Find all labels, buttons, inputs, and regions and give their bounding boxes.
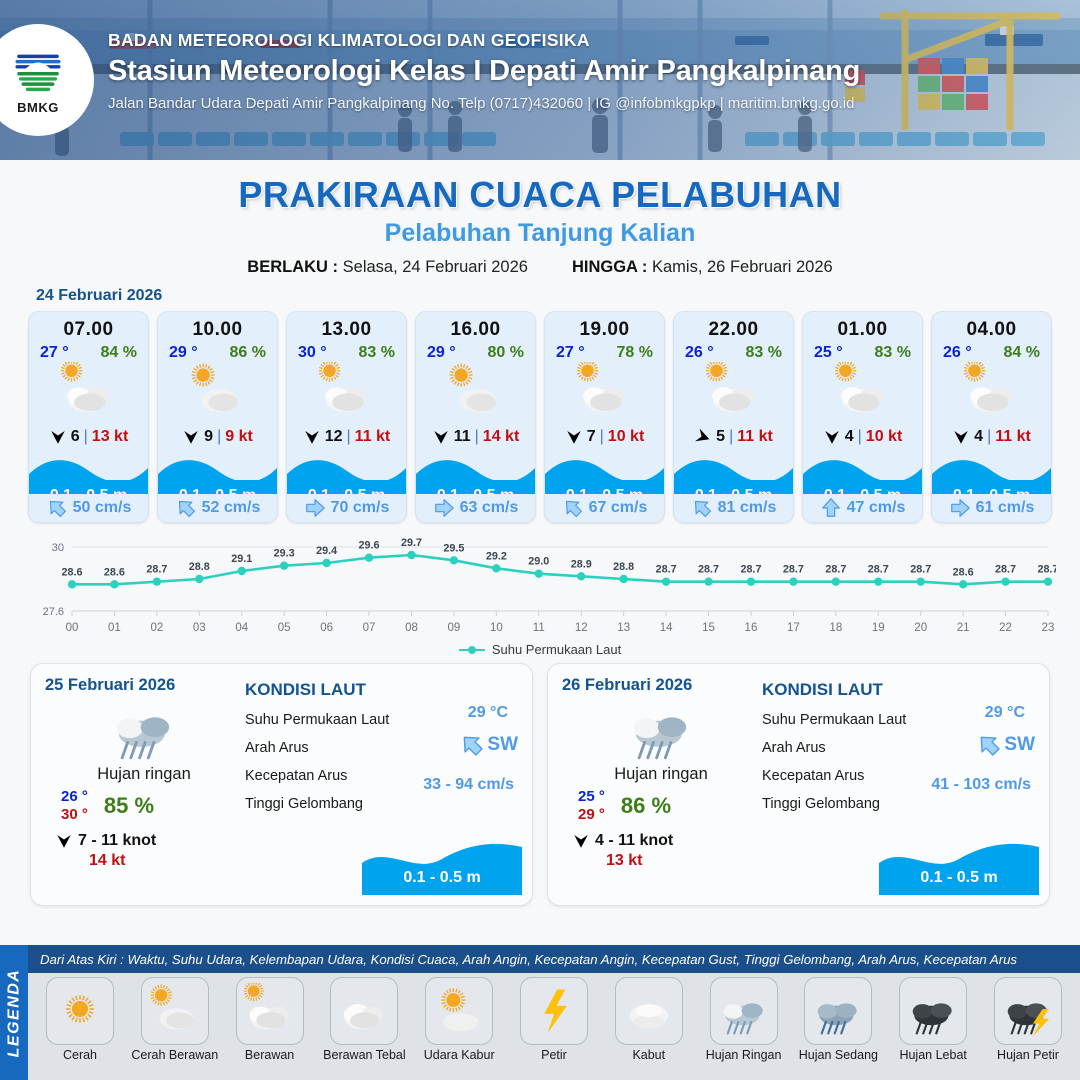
sea-label-wave: Tinggi Gelombang	[245, 796, 363, 812]
daily-wind: 4 - 11 knot	[562, 832, 760, 850]
card-current: 81 cm/s	[674, 494, 793, 522]
legend-icon-box	[141, 977, 209, 1045]
svg-text:11: 11	[533, 622, 545, 634]
wind-direction-arrow-icon	[182, 428, 200, 446]
sea-row-wave-label: Tinggi Gelombang	[762, 790, 1035, 818]
legend-item-label: Petir	[541, 1048, 567, 1062]
valid-to: HINGGA : Kamis, 26 Februari 2026	[572, 258, 833, 277]
card-current: 67 cm/s	[545, 494, 664, 522]
card-gust-speed: 11 kt	[995, 428, 1031, 446]
legend-item-label: Berawan Tebal	[323, 1048, 405, 1062]
daily-temp-min: 26 °	[61, 788, 88, 806]
legend-icon-box	[994, 977, 1062, 1045]
current-direction-arrow-icon	[691, 497, 713, 519]
card-current: 63 cm/s	[416, 494, 535, 522]
card-temp-humidity: 29 ° 80 %	[416, 341, 535, 362]
berawan-icon	[706, 362, 762, 423]
daily-temp-max: 30 °	[61, 806, 88, 824]
hujan-ringan-icon	[626, 690, 696, 767]
daily-gust: 13 kt	[562, 852, 760, 870]
daily-wind-speed: 4 - 11 knot	[595, 832, 673, 850]
valid-to-label: HINGGA :	[572, 258, 647, 276]
svg-text:30: 30	[52, 542, 64, 554]
legend-item: Hujan Petir	[984, 977, 1072, 1062]
wind-direction-arrow-icon	[49, 428, 67, 446]
legend-icon-box	[615, 977, 683, 1045]
hourly-card: 13.00 30 ° 83 % 12 | 11 kt 0.1 - 0.5 m	[286, 311, 407, 523]
daily-condition: Hujan ringan	[45, 765, 243, 784]
hourly-card: 22.00 26 ° 83 % 5 | 11 kt 0.1 - 0.5 m	[673, 311, 794, 523]
card-wind-separator: |	[600, 428, 604, 446]
legend-item-label: Hujan Lebat	[899, 1048, 966, 1062]
legend-icon-box	[236, 977, 304, 1045]
card-wind: 4 | 10 kt	[803, 422, 922, 452]
legend-item-label: Hujan Sedang	[799, 1048, 878, 1062]
hourly-date-label: 24 Februari 2026	[36, 287, 1080, 305]
svg-text:13: 13	[617, 622, 630, 634]
svg-text:07: 07	[363, 622, 376, 634]
port-name: Pelabuhan Tanjung Kalian	[0, 219, 1080, 248]
sea-label-sst: Suhu Permukaan Laut	[762, 712, 906, 728]
sea-conditions-title: KONDISI LAUT	[245, 680, 518, 700]
svg-text:29.1: 29.1	[231, 553, 252, 565]
card-wind-speed: 9	[204, 428, 213, 446]
card-wind: 6 | 13 kt	[29, 422, 148, 452]
sea-label-wave: Tinggi Gelombang	[762, 796, 880, 812]
legend-item: Hujan Lebat	[889, 977, 977, 1062]
svg-text:29.0: 29.0	[528, 556, 549, 568]
daily-humidity: 86 %	[621, 793, 671, 819]
hujan-lebat-icon	[907, 983, 959, 1040]
legend-note-text: Dari Atas Kiri : Waktu, Suhu Udara, Kele…	[40, 952, 1017, 967]
svg-text:21: 21	[957, 622, 970, 634]
card-temperature: 30 °	[298, 344, 327, 362]
card-humidity: 84 %	[101, 344, 137, 362]
bmkg-emblem-icon	[12, 45, 64, 99]
berawan-tebal-icon	[338, 983, 390, 1040]
page-title: PRAKIRAAN CUACA PELABUHAN	[0, 174, 1080, 216]
wind-direction-arrow-icon	[55, 832, 73, 850]
legend-item: Berawan	[226, 977, 314, 1062]
agency-name: BADAN METEOROLOGI KLIMATOLOGI DAN GEOFIS…	[108, 30, 860, 51]
card-gust-speed: 14 kt	[483, 428, 519, 446]
svg-text:28.7: 28.7	[1037, 564, 1056, 576]
svg-text:00: 00	[66, 622, 79, 634]
title-block: PRAKIRAAN CUACA PELABUHAN Pelabuhan Tanj…	[0, 174, 1080, 277]
card-current: 61 cm/s	[932, 494, 1051, 522]
card-time: 04.00	[932, 312, 1051, 341]
svg-text:28.7: 28.7	[910, 564, 931, 576]
card-wave-block: 0.1 - 0.5 m 70 cm/s	[287, 454, 406, 522]
sea-value-current-speed: 33 - 94 cm/s	[423, 776, 514, 794]
card-temp-humidity: 27 ° 78 %	[545, 341, 664, 362]
card-weather-icon	[803, 364, 922, 422]
card-current-speed: 70 cm/s	[331, 499, 390, 517]
card-humidity: 78 %	[617, 344, 653, 362]
sea-value-wave-text: 0.1 - 0.5 m	[879, 869, 1039, 887]
station-name: Stasiun Meteorologi Kelas I Depati Amir …	[108, 55, 860, 88]
card-current: 47 cm/s	[803, 494, 922, 522]
sea-label-current-dir: Arah Arus	[762, 740, 826, 756]
svg-text:28.6: 28.6	[104, 566, 125, 578]
legend-side-title: LEGENDA	[0, 945, 28, 1080]
sst-chart: 3027.60001020304050607080910111213141516…	[24, 535, 1056, 640]
card-wind: 9 | 9 kt	[158, 422, 277, 452]
svg-text:28.8: 28.8	[613, 561, 634, 573]
hourly-card: 04.00 26 ° 84 % 4 | 11 kt 0.1 - 0.5 m	[931, 311, 1052, 523]
card-temp-humidity: 27 ° 84 %	[29, 341, 148, 362]
card-wind-speed: 6	[71, 428, 80, 446]
svg-text:02: 02	[150, 622, 163, 634]
svg-text:17: 17	[787, 622, 800, 634]
svg-text:28.6: 28.6	[953, 566, 974, 578]
legend-item-label: Cerah Berawan	[131, 1048, 218, 1062]
card-time: 13.00	[287, 312, 406, 341]
svg-text:01: 01	[108, 622, 121, 634]
legend-item: Cerah	[36, 977, 124, 1062]
card-current-speed: 50 cm/s	[73, 499, 132, 517]
card-current-speed: 61 cm/s	[976, 499, 1035, 517]
bmkg-logo-text: BMKG	[17, 100, 59, 115]
card-gust-speed: 10 kt	[608, 428, 644, 446]
card-humidity: 84 %	[1004, 344, 1040, 362]
berawan-icon	[577, 362, 633, 423]
current-direction-arrow-icon	[459, 732, 485, 758]
svg-text:29.7: 29.7	[401, 537, 422, 549]
legend-item-label: Hujan Ringan	[706, 1048, 782, 1062]
legend-item: Petir	[510, 977, 598, 1062]
legend-item: Udara Kabur	[415, 977, 503, 1062]
card-wind: 5 | 11 kt	[674, 422, 793, 452]
card-wind: 12 | 11 kt	[287, 422, 406, 452]
daily-temp-min: 25 °	[578, 788, 605, 806]
card-humidity: 83 %	[746, 344, 782, 362]
current-direction-arrow-icon	[433, 497, 455, 519]
sea-value-wave: 0.1 - 0.5 m	[879, 839, 1039, 895]
card-gust-speed: 11 kt	[737, 428, 773, 446]
card-wind-speed: 5	[716, 428, 725, 446]
card-temperature: 29 °	[169, 344, 198, 362]
card-weather-icon	[287, 364, 406, 422]
card-time: 22.00	[674, 312, 793, 341]
card-wind-separator: |	[987, 428, 991, 446]
sea-label-current-speed: Kecepatan Arus	[762, 768, 864, 784]
hourly-card: 19.00 27 ° 78 % 7 | 10 kt 0.1 - 0.5 m	[544, 311, 665, 523]
card-wind: 4 | 11 kt	[932, 422, 1051, 452]
petir-icon	[528, 983, 580, 1040]
daily-gust: 14 kt	[45, 852, 243, 870]
station-contact: Jalan Bandar Udara Depati Amir Pangkalpi…	[108, 95, 860, 112]
svg-text:03: 03	[193, 622, 206, 634]
daily-temp-humidity: 26 ° 30 ° 85 %	[45, 788, 243, 825]
daily-sea-conditions: KONDISI LAUT Suhu Permukaan Laut Arah Ar…	[760, 664, 1049, 905]
card-temperature: 26 °	[943, 344, 972, 362]
current-direction-arrow-icon	[175, 497, 197, 519]
card-temp-humidity: 26 ° 83 %	[674, 341, 793, 362]
card-temperature: 27 °	[40, 344, 69, 362]
current-direction-arrow-icon	[46, 497, 68, 519]
page-header: BMKG BADAN METEOROLOGI KLIMATOLOGI DAN G…	[0, 0, 1080, 160]
legend-item-label: Berawan	[245, 1048, 294, 1062]
chart-legend-marker-icon	[459, 645, 485, 655]
sea-row-wave-label: Tinggi Gelombang	[245, 790, 518, 818]
cerah-berawan-icon	[448, 362, 504, 423]
card-current: 50 cm/s	[29, 494, 148, 522]
legend-icon-box	[710, 977, 778, 1045]
card-current-speed: 67 cm/s	[589, 499, 648, 517]
wind-direction-arrow-icon	[432, 428, 450, 446]
card-weather-icon	[29, 364, 148, 422]
card-wind-speed: 4	[974, 428, 983, 446]
card-wind-separator: |	[84, 428, 88, 446]
sea-value-wave-text: 0.1 - 0.5 m	[362, 869, 522, 887]
cerah-berawan-icon	[149, 983, 201, 1040]
legend-item-label: Udara Kabur	[424, 1048, 495, 1062]
svg-text:23: 23	[1042, 622, 1055, 634]
cerah-berawan-icon	[190, 362, 246, 423]
hourly-forecast-row: 07.00 27 ° 84 % 6 | 13 kt 0.1 - 0.5 m	[0, 311, 1080, 523]
daily-humidity: 85 %	[104, 793, 154, 819]
berawan-icon	[61, 362, 117, 423]
wind-direction-arrow-icon	[694, 428, 712, 446]
svg-text:28.6: 28.6	[61, 566, 82, 578]
svg-text:12: 12	[575, 622, 588, 634]
daily-sea-conditions: KONDISI LAUT Suhu Permukaan Laut Arah Ar…	[243, 664, 532, 905]
sea-value-current-dir-text: SW	[1004, 734, 1035, 756]
card-temperature: 26 °	[685, 344, 714, 362]
chart-legend: Suhu Permukaan Laut	[0, 642, 1080, 657]
sea-label-current-dir: Arah Arus	[245, 740, 309, 756]
svg-text:28.7: 28.7	[146, 564, 167, 576]
card-temperature: 27 °	[556, 344, 585, 362]
card-humidity: 83 %	[359, 344, 395, 362]
hourly-card: 01.00 25 ° 83 % 4 | 10 kt 0.1 - 0.5 m	[802, 311, 923, 523]
sea-label-sst: Suhu Permukaan Laut	[245, 712, 389, 728]
daily-weather-icon	[45, 697, 243, 759]
svg-text:29.5: 29.5	[443, 542, 464, 554]
svg-text:28.9: 28.9	[571, 558, 592, 570]
legend-icon-box	[520, 977, 588, 1045]
card-wind-separator: |	[347, 428, 351, 446]
wind-direction-arrow-icon	[565, 428, 583, 446]
legend-item: Kabut	[605, 977, 693, 1062]
berawan-icon	[319, 362, 375, 423]
svg-text:28.8: 28.8	[189, 561, 210, 573]
current-direction-arrow-icon	[820, 497, 842, 519]
card-weather-icon	[932, 364, 1051, 422]
svg-text:09: 09	[448, 622, 461, 634]
card-current-speed: 47 cm/s	[847, 499, 906, 517]
svg-text:06: 06	[320, 622, 333, 634]
card-temp-humidity: 26 ° 84 %	[932, 341, 1051, 362]
valid-from: BERLAKU : Selasa, 24 Februari 2026	[247, 258, 528, 277]
svg-text:20: 20	[914, 622, 927, 634]
hourly-card: 10.00 29 ° 86 % 9 | 9 kt 0.1 - 0.5 m	[157, 311, 278, 523]
sea-value-current-dir-text: SW	[487, 734, 518, 756]
legend-side-title-text: LEGENDA	[5, 968, 23, 1057]
card-wind: 7 | 10 kt	[545, 422, 664, 452]
svg-text:19: 19	[872, 622, 885, 634]
berawan-icon	[964, 362, 1020, 423]
daily-left: 25 Februari 2026 Hujan ringan 26 ° 30 ° …	[31, 664, 243, 905]
valid-from-value: Selasa, 24 Februari 2026	[343, 258, 528, 276]
legend-icon-box	[425, 977, 493, 1045]
hujan-petir-icon	[1002, 983, 1054, 1040]
udara-kabur-icon	[433, 983, 485, 1040]
card-humidity: 80 %	[488, 344, 524, 362]
wind-direction-arrow-icon	[572, 832, 590, 850]
daily-temps: 26 ° 30 °	[61, 788, 88, 825]
legend-item: Berawan Tebal	[320, 977, 408, 1062]
card-time: 01.00	[803, 312, 922, 341]
svg-text:28.7: 28.7	[656, 564, 677, 576]
card-temperature: 25 °	[814, 344, 843, 362]
legend-item-label: Hujan Petir	[997, 1048, 1059, 1062]
card-wave-block: 0.1 - 0.5 m 50 cm/s	[29, 454, 148, 522]
card-weather-icon	[416, 364, 535, 422]
card-wave-block: 0.1 - 0.5 m 47 cm/s	[803, 454, 922, 522]
card-time: 07.00	[29, 312, 148, 341]
card-wind-separator: |	[729, 428, 733, 446]
hourly-card: 16.00 29 ° 80 % 11 | 14 kt 0.1 - 0.5 m	[415, 311, 536, 523]
valid-from-label: BERLAKU :	[247, 258, 338, 276]
sst-chart-svg: 3027.60001020304050607080910111213141516…	[24, 535, 1056, 640]
card-wind-speed: 7	[587, 428, 596, 446]
legend-icon-box	[899, 977, 967, 1045]
valid-to-value: Kamis, 26 Februari 2026	[652, 258, 833, 276]
svg-text:29.3: 29.3	[274, 548, 295, 560]
wind-direction-arrow-icon	[952, 428, 970, 446]
svg-text:28.7: 28.7	[825, 564, 846, 576]
svg-text:14: 14	[660, 622, 673, 634]
svg-text:28.7: 28.7	[740, 564, 761, 576]
daily-wind-speed: 7 - 11 knot	[78, 832, 156, 850]
legend-item-label: Kabut	[632, 1048, 665, 1062]
card-time: 10.00	[158, 312, 277, 341]
svg-text:10: 10	[490, 622, 503, 634]
current-direction-arrow-icon	[562, 497, 584, 519]
chart-legend-label: Suhu Permukaan Laut	[492, 642, 621, 657]
card-temperature: 29 °	[427, 344, 456, 362]
daily-wind: 7 - 11 knot	[45, 832, 243, 850]
card-weather-icon	[158, 364, 277, 422]
card-wind-speed: 4	[845, 428, 854, 446]
card-weather-icon	[674, 364, 793, 422]
sea-value-current-dir: SW	[459, 732, 518, 758]
current-direction-arrow-icon	[304, 497, 326, 519]
legend-note-bar: Dari Atas Kiri : Waktu, Suhu Udara, Kele…	[28, 945, 1080, 973]
current-direction-arrow-icon	[949, 497, 971, 519]
card-current-speed: 81 cm/s	[718, 499, 777, 517]
card-current: 70 cm/s	[287, 494, 406, 522]
header-text-block: BADAN METEOROLOGI KLIMATOLOGI DAN GEOFIS…	[108, 30, 860, 112]
card-gust-speed: 11 kt	[355, 428, 391, 446]
card-time: 19.00	[545, 312, 664, 341]
hujan-sedang-icon	[812, 983, 864, 1040]
svg-text:15: 15	[702, 622, 715, 634]
legend-icon-box	[330, 977, 398, 1045]
card-current: 52 cm/s	[158, 494, 277, 522]
svg-text:18: 18	[829, 622, 842, 634]
card-wind-separator: |	[217, 428, 221, 446]
sea-value-current-dir: SW	[976, 732, 1035, 758]
card-temp-humidity: 25 ° 83 %	[803, 341, 922, 362]
berawan-icon	[244, 983, 296, 1040]
svg-text:28.7: 28.7	[995, 564, 1016, 576]
card-gust-speed: 13 kt	[92, 428, 128, 446]
card-wave-block: 0.1 - 0.5 m 61 cm/s	[932, 454, 1051, 522]
card-gust-speed: 10 kt	[866, 428, 902, 446]
card-humidity: 86 %	[230, 344, 266, 362]
legend-item: Hujan Ringan	[700, 977, 788, 1062]
svg-text:29.2: 29.2	[486, 550, 507, 562]
card-humidity: 83 %	[875, 344, 911, 362]
card-current-speed: 52 cm/s	[202, 499, 261, 517]
svg-text:22: 22	[999, 622, 1012, 634]
daily-forecast-card: 26 Februari 2026 Hujan ringan 25 ° 29 ° …	[547, 663, 1050, 906]
hujan-ringan-icon	[109, 690, 179, 767]
legend-item: Hujan Sedang	[794, 977, 882, 1062]
svg-text:28.7: 28.7	[868, 564, 889, 576]
card-wind: 11 | 14 kt	[416, 422, 535, 452]
svg-text:28.7: 28.7	[783, 564, 804, 576]
card-wind-separator: |	[475, 428, 479, 446]
svg-text:29.6: 29.6	[359, 540, 380, 552]
wind-direction-arrow-icon	[303, 428, 321, 446]
legend-icon-box	[46, 977, 114, 1045]
sea-conditions-title: KONDISI LAUT	[762, 680, 1035, 700]
sea-value-current-speed: 41 - 103 cm/s	[931, 776, 1031, 794]
sea-label-current-speed: Kecepatan Arus	[245, 768, 347, 784]
wind-direction-arrow-icon	[823, 428, 841, 446]
card-temp-humidity: 29 ° 86 %	[158, 341, 277, 362]
current-direction-arrow-icon	[976, 732, 1002, 758]
svg-text:16: 16	[745, 622, 758, 634]
card-wave-block: 0.1 - 0.5 m 52 cm/s	[158, 454, 277, 522]
card-wind-speed: 12	[325, 428, 343, 446]
daily-forecast-row: 25 Februari 2026 Hujan ringan 26 ° 30 ° …	[0, 657, 1080, 906]
daily-temp-humidity: 25 ° 29 ° 86 %	[562, 788, 760, 825]
sea-value-sst: 29 °C	[468, 704, 508, 722]
card-current-speed: 63 cm/s	[460, 499, 519, 517]
card-wind-speed: 11	[454, 428, 471, 446]
card-gust-speed: 9 kt	[225, 428, 253, 446]
daily-temps: 25 ° 29 °	[578, 788, 605, 825]
sea-value-sst: 29 °C	[985, 704, 1025, 722]
daily-forecast-card: 25 Februari 2026 Hujan ringan 26 ° 30 ° …	[30, 663, 533, 906]
card-wind-separator: |	[858, 428, 862, 446]
card-temp-humidity: 30 ° 83 %	[287, 341, 406, 362]
svg-text:27.6: 27.6	[43, 606, 64, 618]
svg-text:05: 05	[278, 622, 291, 634]
svg-text:08: 08	[405, 622, 418, 634]
kabut-icon	[623, 983, 675, 1040]
validity-range: BERLAKU : Selasa, 24 Februari 2026 HINGG…	[0, 258, 1080, 277]
hourly-card: 07.00 27 ° 84 % 6 | 13 kt 0.1 - 0.5 m	[28, 311, 149, 523]
daily-weather-icon	[562, 697, 760, 759]
svg-text:04: 04	[235, 622, 248, 634]
cerah-icon	[54, 983, 106, 1040]
legend-items-row: Cerah Cerah Berawan Berawan Berawan Teba…	[28, 977, 1080, 1062]
card-wave-block: 0.1 - 0.5 m 63 cm/s	[416, 454, 535, 522]
daily-temp-max: 29 °	[578, 806, 605, 824]
legend-icon-box	[804, 977, 872, 1045]
svg-text:29.4: 29.4	[316, 545, 337, 557]
legend-section: LEGENDA Dari Atas Kiri : Waktu, Suhu Uda…	[0, 945, 1080, 1080]
legend-item: Cerah Berawan	[131, 977, 219, 1062]
card-wave-block: 0.1 - 0.5 m 81 cm/s	[674, 454, 793, 522]
card-time: 16.00	[416, 312, 535, 341]
